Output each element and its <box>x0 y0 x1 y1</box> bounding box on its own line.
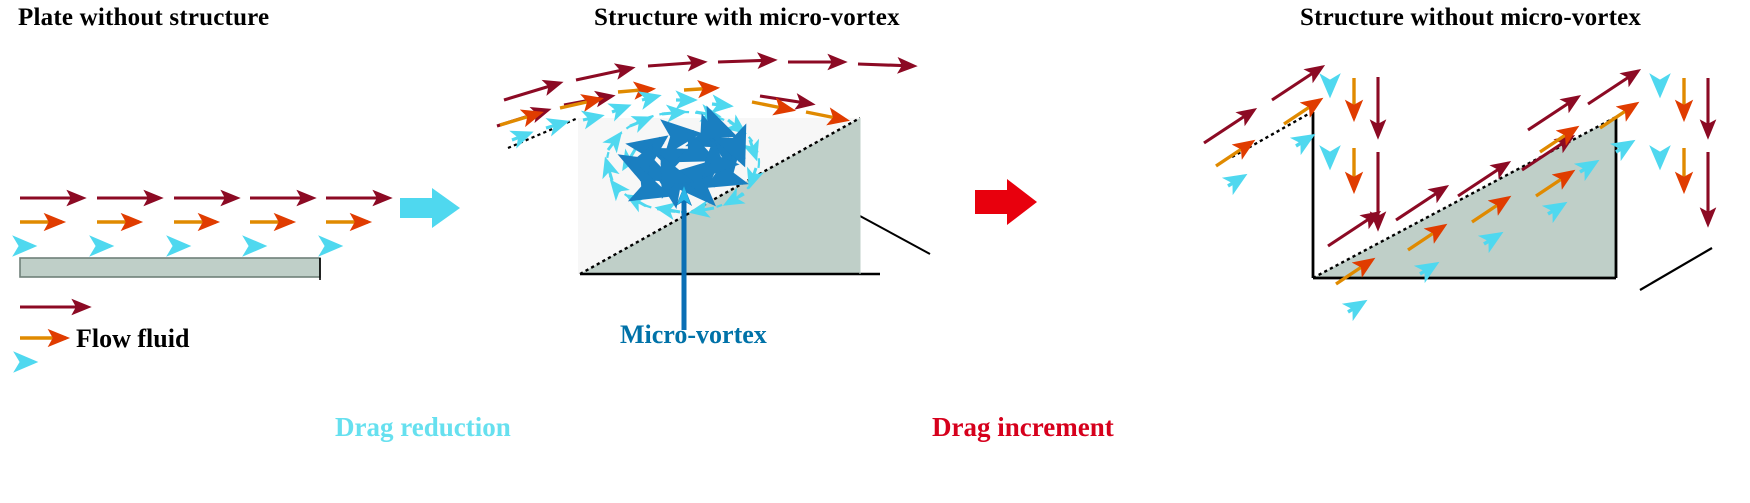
figure-canvas: Plate without structure Structure with m… <box>0 0 1750 503</box>
legend-label: Flow fluid <box>76 324 189 354</box>
diagram-vectors <box>0 0 1750 503</box>
micro-vortex-label: Micro-vortex <box>620 320 767 350</box>
drag-reduction-label: Drag reduction <box>335 412 511 443</box>
drag-increment-label: Drag increment <box>932 412 1114 443</box>
arrow-to-panel-3 <box>975 179 1037 225</box>
flat-plate <box>20 258 320 277</box>
panel-1-flow <box>20 198 389 280</box>
panel-3-structure <box>1232 112 1712 290</box>
panel-2-outer-flow <box>497 60 914 126</box>
arrow-to-panel-2 <box>400 188 460 228</box>
